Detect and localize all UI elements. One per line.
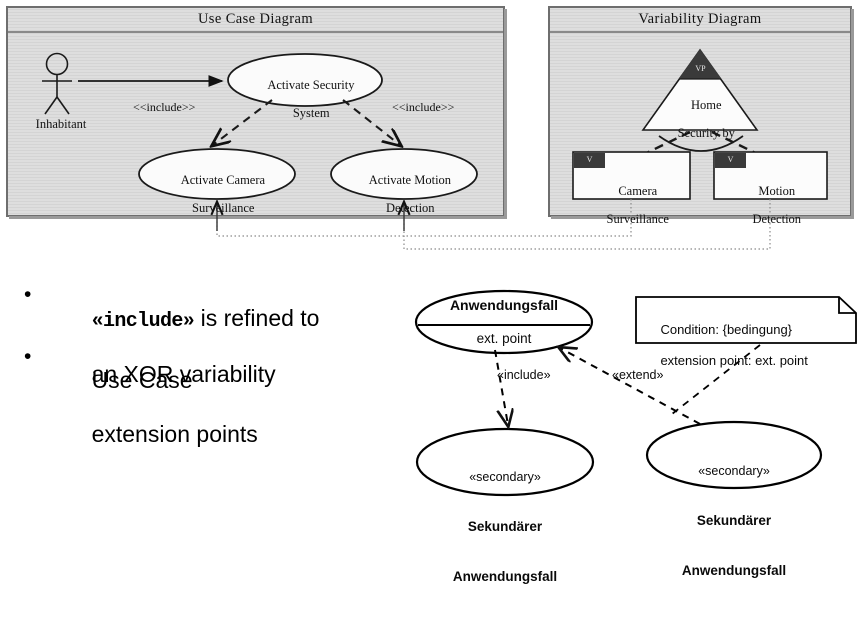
variant-label-motion-detection: Motion Detection xyxy=(715,170,826,240)
variant2-line1: Motion xyxy=(758,184,795,198)
uc3-line2: Detection xyxy=(386,201,435,215)
note-line1: Condition: {bedingung} xyxy=(660,322,792,337)
sec1-stereotype: «secondary» xyxy=(425,470,585,484)
use-case-label-activate-security-system: Activate Security System xyxy=(228,64,382,134)
sec1-line2: Anwendungsfall xyxy=(425,570,585,585)
use-case-label-activate-motion-detection: Activate Motion Detection xyxy=(331,159,477,229)
variant1-line1: Camera xyxy=(618,184,657,198)
variant-tag-camera: V xyxy=(574,156,605,165)
variant2-line2: Detection xyxy=(752,212,801,226)
use-case-label-activate-camera-surveillance: Activate Camera Surveillance xyxy=(140,159,294,229)
bullet-1-keyword: «include» xyxy=(92,310,195,333)
uc2-line2: Surveillance xyxy=(192,201,254,215)
note-condition-text: Condition: {bedingung} extension point: … xyxy=(646,307,846,384)
bullet-2-line2: extension points xyxy=(92,421,258,447)
label-secondary-include-target: «secondary» Sekundärer Anwendungsfall xyxy=(425,434,585,621)
uc1-line1: Activate Security xyxy=(267,78,354,92)
variation-point-title: Home Security by xyxy=(645,84,755,154)
variant1-line2: Surveillance xyxy=(607,212,669,226)
label-secondary-extend-source: «secondary» Sekundärer Anwendungsfall xyxy=(654,428,814,615)
actor-label-inhabitant: Inhabitant xyxy=(16,117,106,131)
dependency-include xyxy=(495,350,508,425)
vp-line2: Security by xyxy=(678,126,735,140)
use-case-panel-title: Use Case Diagram xyxy=(8,11,503,27)
variability-panel-title: Variability Diagram xyxy=(550,11,850,27)
sec2-line1: Sekundärer xyxy=(654,514,814,529)
note-line2: extension point: ext. point xyxy=(660,353,807,368)
include-label-right: <<include>> xyxy=(392,101,454,114)
bullet-marker-2: • xyxy=(24,345,31,369)
uc2-line1: Activate Camera xyxy=(181,173,265,187)
bullet-item-2: Use Case extension points xyxy=(66,340,396,476)
bullet-2-rest: Use Case xyxy=(92,367,193,393)
variant-label-camera-surveillance: Camera Surveillance xyxy=(574,170,689,240)
label-anwendungsfall: Anwendungsfall xyxy=(424,298,584,314)
bullet-1-rest: is refined to xyxy=(194,305,319,331)
uc3-line1: Activate Motion xyxy=(369,173,451,187)
uc1-line2: System xyxy=(293,106,330,120)
vp-line1: Home xyxy=(691,98,722,112)
relation-label-extend: «extend» xyxy=(612,368,663,382)
variant-tag-motion: V xyxy=(715,156,746,165)
variation-point-tag: VP xyxy=(680,65,721,74)
relation-label-include: «include» xyxy=(497,368,551,382)
sec1-line1: Sekundärer xyxy=(425,520,585,535)
slide-canvas: Use Case Diagram Inhabitant Activate Sec… xyxy=(0,0,866,503)
bullet-marker-1: • xyxy=(24,283,31,307)
label-extension-point: ext. point xyxy=(424,331,584,346)
include-label-left: <<include>> xyxy=(133,101,195,114)
sec2-stereotype: «secondary» xyxy=(654,464,814,478)
sec2-line2: Anwendungsfall xyxy=(654,564,814,579)
